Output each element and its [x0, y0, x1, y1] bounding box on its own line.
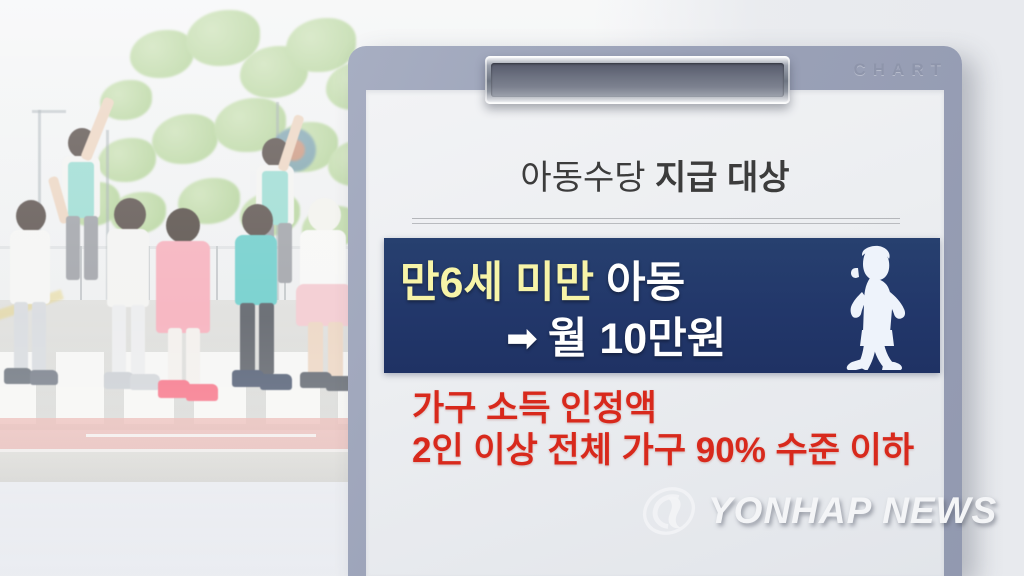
clipboard-clip — [485, 56, 790, 104]
yonhap-watermark: YONHAP NEWS — [640, 482, 997, 540]
highlight-child-text: 아동 — [594, 259, 685, 307]
highlight-age-text: 만6세 미만 — [400, 259, 594, 307]
title-divider — [412, 218, 900, 224]
condition-line-2: 2인 이상 전체 가구 90% 수준 이하 — [412, 430, 932, 472]
highlight-amount-text: 월 10만원 — [548, 315, 726, 363]
highlight-line-1: 만6세 미만 아동 — [400, 248, 685, 310]
page-title-light: 아동수당 — [520, 159, 645, 197]
highlight-line-2: ➡월 10만원 — [506, 304, 726, 366]
yonhap-watermark-text: YONHAP NEWS — [708, 490, 997, 532]
page-title-bold: 지급 대상 — [655, 159, 790, 197]
condition-text-block: 가구 소득 인정액 2인 이상 전체 가구 90% 수준 이하 — [412, 388, 932, 472]
yonhap-swirl-logo-icon — [640, 482, 698, 540]
clipboard-clip-inner — [491, 63, 784, 97]
condition-line-1: 가구 소득 인정액 — [412, 388, 932, 430]
highlight-panel: 만6세 미만 아동 ➡월 10만원 — [384, 238, 940, 373]
arrow-right-icon: ➡ — [506, 316, 538, 361]
graphic-canvas: CHART 아동수당 지급 대상 만6세 미만 아동 ➡월 10만원 — [0, 0, 1024, 576]
chart-corner-label: CHART — [854, 60, 949, 80]
page-title: 아동수당 지급 대상 — [366, 150, 944, 199]
walking-child-silhouette-icon — [828, 244, 924, 370]
